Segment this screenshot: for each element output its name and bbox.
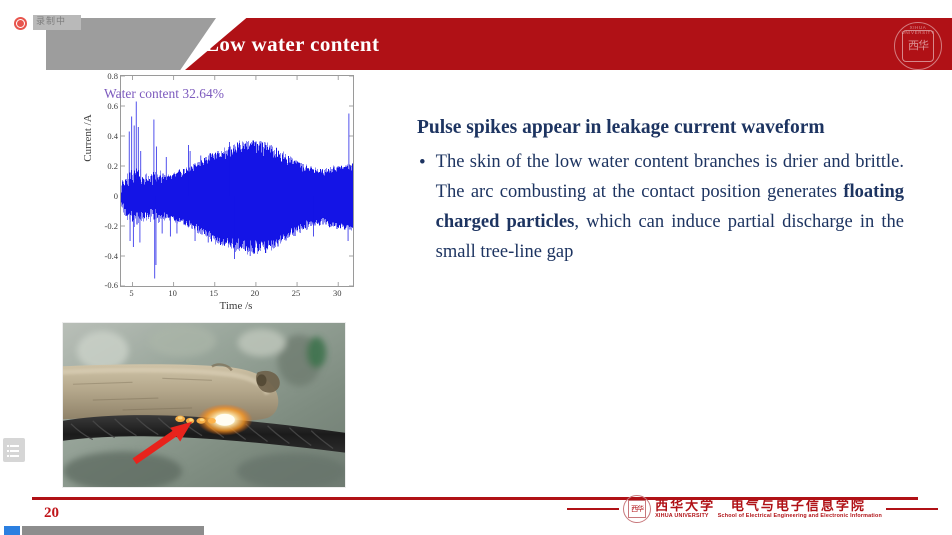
chart-x-tick: 5 [120, 288, 144, 298]
chart-x-axis-label: Time /s [120, 300, 352, 312]
footer-school-cn: 电气与电子信息学院 [731, 498, 866, 513]
record-dot-icon[interactable] [14, 17, 27, 30]
body-content: Pulse spikes appear in leakage current w… [417, 113, 904, 268]
footer-logo: 西华 西华大学 电气与电子信息学院 XIHUA UNIVERSITY Schoo… [567, 492, 938, 526]
chart-y-tick: -0.6 [78, 280, 118, 290]
taskbar-window-item[interactable] [22, 526, 204, 535]
os-taskbar [0, 524, 952, 535]
chart-x-tick: 25 [284, 288, 308, 298]
page-title: Low water content [205, 18, 379, 70]
seal-ring-text: XIHUA UNIVERSITY [895, 25, 941, 35]
footer-university-en: XIHUA UNIVERSITY [655, 513, 709, 519]
chart-annotation: Water content 32.64% [104, 86, 224, 102]
chart-y-tick: 0.2 [78, 161, 118, 171]
seal-center-text: 西华 [628, 500, 646, 518]
list-menu-icon[interactable] [3, 438, 25, 462]
chart-y-tick: 0.4 [78, 131, 118, 141]
leakage-current-waveform [121, 76, 353, 286]
footer-logo-cn: 西华大学 电气与电子信息学院 [655, 499, 882, 514]
lead-statement: Pulse spikes appear in leakage current w… [417, 113, 904, 144]
chart-x-tick: 30 [325, 288, 349, 298]
taskbar-active-item[interactable] [4, 526, 20, 535]
chart-x-tick: 20 [243, 288, 267, 298]
footer-logo-rule-left [567, 508, 619, 511]
bullet-marker: • [417, 148, 426, 268]
chart-x-tick: 15 [202, 288, 226, 298]
chart-y-tick: -0.4 [78, 251, 118, 261]
leakage-current-chart: Current /A 0.8 0.6 0.4 0.2 0 -0.2 -0.4 -… [56, 70, 364, 310]
recorder-toolbar [0, 0, 952, 18]
chart-y-tick: 0.8 [78, 71, 118, 81]
footer-university-cn: 西华大学 [655, 498, 715, 513]
chart-x-tick: 10 [161, 288, 185, 298]
chart-y-tick: 0.6 [78, 101, 118, 111]
chart-y-tick: -0.2 [78, 221, 118, 231]
recording-status-label: 录制中 [33, 15, 81, 30]
slide-canvas: 录制中 Low water content XIHUA UNIVERSITY 西… [0, 0, 952, 535]
footer-school-en: School of Electrical Engineering and Ele… [718, 513, 882, 519]
footer-logo-rule-right [886, 508, 938, 511]
chart-plot-area [120, 75, 354, 287]
page-number: 20 [44, 505, 59, 522]
university-seal-icon: XIHUA UNIVERSITY 西华 [894, 22, 942, 70]
slide-header: Low water content XIHUA UNIVERSITY 西华 [0, 18, 952, 70]
bullet-item: • The skin of the low water content bran… [417, 148, 904, 268]
bullet-text: The skin of the low water content branch… [436, 148, 904, 268]
arc-discharge-photo [62, 322, 346, 488]
chart-y-tick: 0 [78, 191, 118, 201]
university-seal-icon: 西华 [623, 495, 651, 523]
